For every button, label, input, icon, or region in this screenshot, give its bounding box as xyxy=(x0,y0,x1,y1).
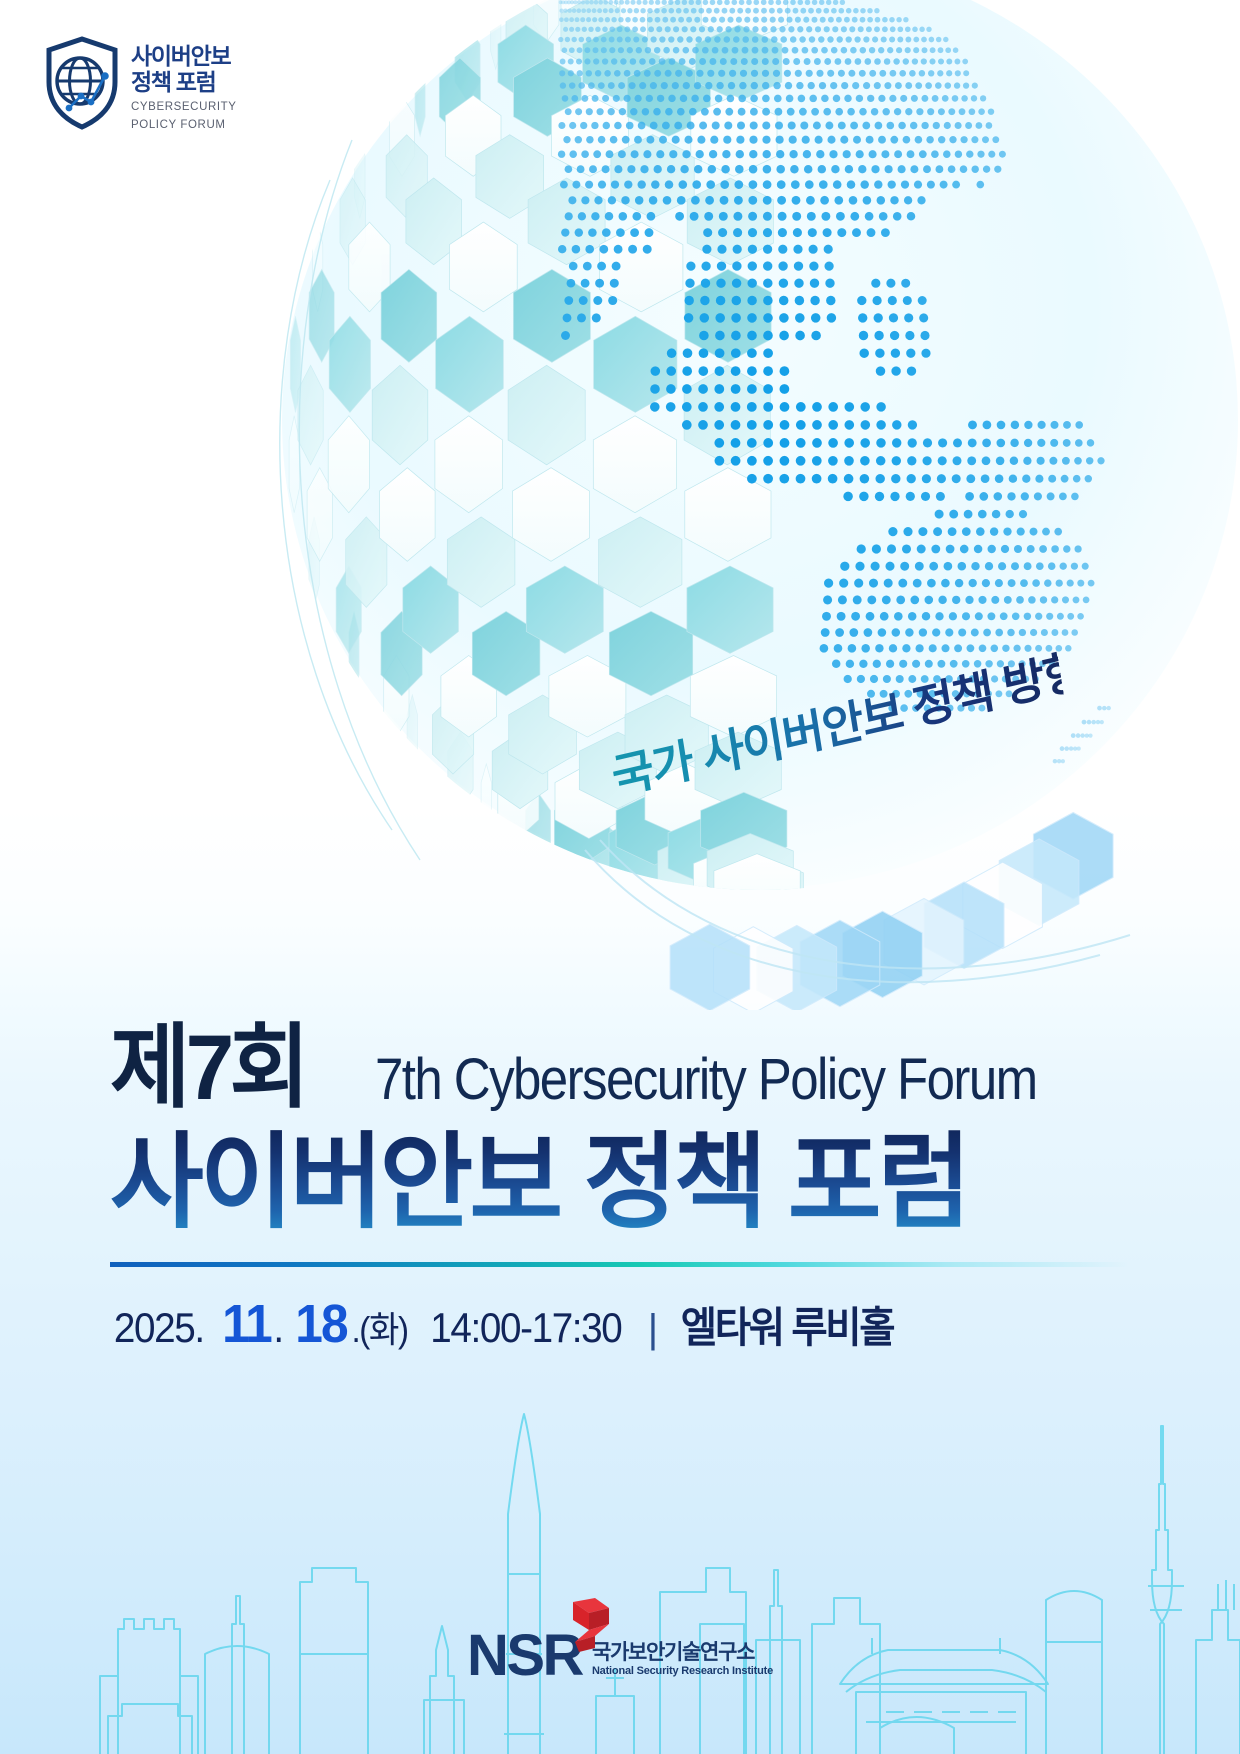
globe-map-dot xyxy=(938,438,947,447)
globe-map-dot xyxy=(964,510,973,519)
globe-map-dot xyxy=(853,595,862,604)
globe-map-dot xyxy=(737,122,745,130)
globe-map-dot xyxy=(914,181,922,189)
globe-map-dot xyxy=(1024,613,1031,620)
globe-map-dot xyxy=(835,628,844,637)
globe-map-dot xyxy=(803,150,811,158)
globe-map-dot xyxy=(1071,563,1078,570)
globe-map-dot xyxy=(808,228,817,237)
globe-map-dot xyxy=(919,27,924,32)
globe-map-dot xyxy=(725,26,731,32)
globe-map-dot xyxy=(742,47,749,54)
globe-map-dot xyxy=(844,17,850,23)
globe-map-dot xyxy=(662,122,670,130)
globe-map-dot xyxy=(577,70,583,76)
globe-map-dot xyxy=(896,596,905,605)
globe-map-dot xyxy=(619,212,628,221)
globe-map-dot xyxy=(1024,439,1032,447)
globe-map-dot xyxy=(783,58,790,65)
nsr-subtitle-block: 국가보안기술연구소 National Security Research Ins… xyxy=(592,1641,773,1682)
globe-map-dot xyxy=(907,150,915,158)
globe-map-dot xyxy=(905,628,913,636)
globe-map-dot xyxy=(965,596,973,604)
globe-map-dot xyxy=(761,17,767,23)
globe-map-dot xyxy=(922,456,931,465)
seoul-skyline-outline xyxy=(0,1324,1240,1754)
globe-map-dot xyxy=(763,384,773,394)
globe-map-dot xyxy=(1082,720,1087,725)
globe-map-dot xyxy=(955,122,962,129)
globe-map-dot xyxy=(591,122,598,129)
globe-map-dot xyxy=(878,47,884,53)
globe-map-dot xyxy=(793,58,800,65)
globe-map-dot xyxy=(739,82,746,89)
globe-map-dot xyxy=(995,474,1004,483)
globe-map-dot xyxy=(761,8,767,14)
globe-map-dot xyxy=(889,17,895,23)
globe-map-dot xyxy=(763,180,772,189)
globe-map-dot xyxy=(731,456,741,466)
globe-map-dot xyxy=(1048,562,1056,570)
globe-map-dot xyxy=(763,474,773,484)
globe-map-dot xyxy=(991,645,999,653)
globe-map-dot xyxy=(778,228,787,237)
globe-map-dot xyxy=(838,595,847,604)
globe-map-dot xyxy=(718,70,725,77)
globe-map-dot xyxy=(715,348,725,358)
globe-map-dot xyxy=(691,8,697,14)
globe-map-dot xyxy=(603,8,608,13)
globe-map-dot xyxy=(806,196,815,205)
globe-map-dot xyxy=(614,122,622,130)
globe-map-dot xyxy=(881,36,887,42)
globe-map-dot xyxy=(780,402,790,412)
globe-map-dot xyxy=(943,150,951,158)
globe-map-dot xyxy=(701,261,710,270)
globe-map-dot xyxy=(701,108,709,116)
globe-map-dot xyxy=(885,165,893,173)
globe-map-dot xyxy=(876,438,886,448)
globe-map-dot xyxy=(818,36,824,42)
globe-map-dot xyxy=(821,47,828,54)
globe-map-dot xyxy=(615,8,620,13)
globe-map-dot xyxy=(569,150,577,158)
globe-map-dot xyxy=(586,136,594,144)
globe-map-dot xyxy=(1001,545,1009,553)
globe-map-dot xyxy=(750,121,758,129)
globe-map-dot xyxy=(568,70,574,76)
globe-map-dot xyxy=(643,245,652,254)
globe-map-dot xyxy=(946,70,952,76)
globe-map-dot xyxy=(971,95,977,101)
globe-map-dot xyxy=(677,108,685,116)
globe-map-dot xyxy=(903,296,912,305)
globe-map-dot xyxy=(945,47,951,53)
globe-map-dot xyxy=(849,628,858,637)
meta-weekday: .(화) xyxy=(351,1301,407,1353)
globe-map-dot xyxy=(645,228,654,237)
globe-map-dot xyxy=(894,612,903,621)
globe-map-dot xyxy=(714,8,720,14)
globe-map-dot xyxy=(742,36,749,43)
globe-map-dot xyxy=(848,644,857,653)
globe-map-dot xyxy=(632,212,641,221)
globe-map-dot xyxy=(702,245,711,254)
globe-map-dot xyxy=(563,313,572,322)
globe-map-dot xyxy=(860,402,870,412)
globe-map-dot xyxy=(762,70,769,77)
globe-map-dot xyxy=(992,510,1001,519)
globe-map-dot xyxy=(706,180,715,189)
globe-map-dot xyxy=(686,36,692,42)
globe-map-dot xyxy=(944,562,953,571)
globe-map-dot xyxy=(894,150,902,158)
globe-map-dot xyxy=(869,579,878,588)
globe-map-dot xyxy=(838,122,846,130)
globe-map-dot xyxy=(905,82,912,89)
globe-map-dot xyxy=(977,151,984,158)
globe-map-dot xyxy=(1074,457,1082,465)
globe-map-dot xyxy=(821,212,830,221)
globe-map-dot xyxy=(617,37,623,43)
globe-map-dot xyxy=(675,212,684,221)
globe-map-dot xyxy=(824,245,833,254)
globe-map-dot xyxy=(935,510,944,519)
globe-map-dot xyxy=(573,0,577,4)
globe-map-dot xyxy=(814,58,821,65)
globe-map-dot xyxy=(972,83,978,89)
globe-map-dot xyxy=(716,82,723,89)
globe-map-dot xyxy=(1071,629,1078,636)
globe-map-dot xyxy=(670,17,676,23)
globe-map-dot xyxy=(1037,457,1045,465)
globe-map-dot xyxy=(620,58,626,64)
globe-map-dot xyxy=(929,562,938,571)
globe-map-dot xyxy=(613,95,620,102)
globe-map-dot xyxy=(733,245,742,254)
globe-map-dot xyxy=(921,37,927,43)
globe-map-dot xyxy=(731,313,741,323)
globe-map-dot xyxy=(894,108,901,115)
globe-map-dot xyxy=(882,595,891,604)
globe-map-dot xyxy=(809,261,818,270)
globe-map-dot xyxy=(823,108,831,116)
globe-map-dot xyxy=(656,26,662,32)
globe-map-dot xyxy=(874,8,879,13)
globe-map-dot xyxy=(945,82,952,89)
globe-map-dot xyxy=(593,296,602,305)
globe-map-dot xyxy=(946,545,955,554)
globe-map-dot xyxy=(878,136,886,144)
globe-map-dot xyxy=(593,58,599,64)
globe-map-dot xyxy=(682,402,692,412)
globe-map-dot xyxy=(721,165,730,174)
globe-map-dot xyxy=(650,402,660,412)
globe-map-dot xyxy=(1030,528,1038,536)
globe-map-dot xyxy=(654,70,661,77)
title-row-primary: 제7회 7th Cybersecurity Policy Forum xyxy=(110,1022,1140,1118)
globe-map-dot xyxy=(816,70,823,77)
globe-map-dot xyxy=(837,228,846,237)
globe-map-dot xyxy=(796,82,803,89)
globe-map-dot xyxy=(831,47,838,54)
globe-map-dot xyxy=(763,245,772,254)
globe-map-dot xyxy=(666,402,676,412)
globe-map-dot xyxy=(692,47,699,54)
globe-map-dot xyxy=(892,438,901,447)
globe-map-dot xyxy=(921,122,928,129)
globe-map-dot xyxy=(610,136,618,144)
globe-map-dot xyxy=(793,245,802,254)
globe-svg xyxy=(0,0,1240,1010)
globe-map-dot xyxy=(752,36,759,43)
globe-map-dot xyxy=(938,136,945,143)
meta-venue: 엘타워 루비홀 xyxy=(681,1294,893,1355)
globe-map-dot xyxy=(862,122,870,130)
globe-map-dot xyxy=(770,17,776,23)
globe-map-dot xyxy=(897,26,903,32)
globe-map-dot xyxy=(747,296,757,306)
globe-map-dot xyxy=(845,165,853,173)
globe-map-dot xyxy=(732,261,741,270)
globe-map-dot xyxy=(672,82,679,89)
globe-map-dot xyxy=(813,122,821,130)
globe-map-dot xyxy=(932,95,939,102)
globe-map-dot xyxy=(762,108,770,116)
globe-map-dot xyxy=(912,660,920,668)
globe-map-dot xyxy=(558,245,566,253)
globe-map-dot xyxy=(901,279,910,288)
globe-map-dot xyxy=(874,313,883,322)
logo-en-line1: CYBERSECURITY xyxy=(131,100,237,114)
globe-map-dot xyxy=(865,212,874,221)
globe-map-dot xyxy=(733,212,742,221)
globe-map-dot xyxy=(651,180,659,188)
globe-map-dot xyxy=(844,456,854,466)
globe-map-dot xyxy=(841,47,848,54)
globe-map-dot xyxy=(796,456,806,466)
globe-map-dot xyxy=(762,121,770,129)
globe-map-dot xyxy=(609,8,614,13)
globe-map-dot xyxy=(669,58,676,65)
globe-map-dot xyxy=(571,37,576,42)
globe-map-dot xyxy=(720,58,727,65)
globe-map-dot xyxy=(979,492,988,501)
globe-map-dot xyxy=(779,278,788,287)
globe-map-dot xyxy=(907,474,916,483)
globe-map-dot xyxy=(821,628,830,637)
globe-map-dot xyxy=(1071,733,1076,738)
globe-map-dot xyxy=(834,196,843,205)
globe-map-dot xyxy=(792,47,799,54)
globe-map-dot xyxy=(792,196,801,205)
globe-map-dot xyxy=(837,36,843,42)
globe-map-dot xyxy=(960,136,967,143)
globe-map-dot xyxy=(776,165,785,174)
globe-map-dot xyxy=(799,108,807,116)
content-area: 제7회 7th Cybersecurity Policy Forum 사이버안보… xyxy=(0,960,1240,1754)
globe-map-dot xyxy=(1073,596,1080,603)
globe-map-dot xyxy=(779,474,789,484)
globe-map-dot xyxy=(802,47,809,54)
globe-map-dot xyxy=(762,95,770,103)
globe-map-dot xyxy=(588,27,593,32)
globe-map-dot xyxy=(896,47,902,53)
globe-map-dot xyxy=(891,366,900,375)
globe-map-dot xyxy=(929,37,935,43)
globe-map-dot xyxy=(877,196,886,205)
globe-map-dot xyxy=(714,402,724,412)
globe-map-dot xyxy=(669,8,675,14)
globe-map-dot xyxy=(869,150,877,158)
globe-map-dot xyxy=(810,296,819,305)
globe-map-dot xyxy=(738,95,746,103)
globe-map-dot xyxy=(586,37,592,43)
globe-map-dot xyxy=(575,17,580,22)
globe-map-dot xyxy=(1107,706,1111,710)
globe-map-dot xyxy=(776,150,784,158)
globe-map-dot xyxy=(949,612,957,620)
globe-map-dot xyxy=(763,456,773,466)
globe-map-dot xyxy=(680,165,688,173)
globe-map-dot xyxy=(860,474,870,484)
globe-map-dot xyxy=(1102,706,1107,711)
globe-map-dot xyxy=(812,402,822,412)
globe-map-dot xyxy=(985,562,993,570)
globe-map-dot xyxy=(971,629,979,637)
globe-map-dot xyxy=(1011,562,1019,570)
globe-map-dot xyxy=(963,82,969,88)
nsr-subtitle-en: National Security Research Institute xyxy=(592,1665,773,1678)
globe-map-dot xyxy=(606,150,614,158)
globe-map-dot xyxy=(577,313,586,322)
globe-map-dot xyxy=(780,36,787,43)
globe-map-dot xyxy=(923,438,932,447)
globe-map-dot xyxy=(608,108,615,115)
globe-map-dot xyxy=(840,136,848,144)
globe-map-dot xyxy=(900,562,909,571)
globe-map-dot xyxy=(682,420,692,430)
globe-map-dot xyxy=(689,58,696,65)
globe-map-dot xyxy=(717,261,726,270)
globe-map-dot xyxy=(640,17,646,23)
globe-map-dot xyxy=(826,296,835,305)
globe-map-dot xyxy=(616,228,625,237)
meta-separator: | xyxy=(630,1307,674,1352)
globe-map-dot xyxy=(828,402,838,412)
globe-map-dot xyxy=(729,70,736,77)
globe-map-dot xyxy=(1088,734,1092,738)
globe-map-dot xyxy=(921,58,927,64)
globe-map-dot xyxy=(960,165,968,173)
globe-map-dot xyxy=(584,58,590,64)
globe-map-dot xyxy=(1075,421,1083,429)
globe-map-dot xyxy=(602,165,610,173)
globe-map-dot xyxy=(614,245,623,254)
globe-map-dot xyxy=(700,296,709,305)
globe-map-dot xyxy=(602,27,608,33)
globe-artwork: 국가 사이버안보 정책 방향 xyxy=(0,0,1240,1010)
globe-map-dot xyxy=(811,108,819,116)
globe-map-dot xyxy=(697,136,705,144)
globe-map-dot xyxy=(869,47,875,53)
globe-map-dot xyxy=(804,58,811,65)
globe-map-dot xyxy=(843,492,853,502)
globe-map-dot xyxy=(1061,475,1069,483)
globe-map-dot xyxy=(747,474,757,484)
globe-map-dot xyxy=(656,150,664,158)
globe-map-dot xyxy=(820,17,826,23)
globe-map-dot xyxy=(1085,733,1089,737)
globe-map-dot xyxy=(860,47,866,53)
globe-map-dot xyxy=(727,17,733,23)
globe-map-dot xyxy=(1077,747,1081,751)
globe-map-dot xyxy=(887,47,893,53)
globe-map-dot xyxy=(1073,746,1077,750)
globe-map-dot xyxy=(812,474,822,484)
globe-map-dot xyxy=(1024,562,1032,570)
globe-map-dot xyxy=(925,596,934,605)
globe-map-dot xyxy=(876,420,886,430)
globe-map-dot xyxy=(748,228,757,237)
globe-map-dot xyxy=(875,122,883,130)
globe-map-dot xyxy=(645,47,651,53)
globe-map-dot xyxy=(780,366,790,376)
globe-map-dot xyxy=(624,180,632,188)
globe-map-dot xyxy=(841,82,848,89)
globe-map-dot xyxy=(1063,439,1071,447)
globe-map-dot xyxy=(644,70,651,77)
globe-map-dot xyxy=(773,82,780,89)
globe-map-dot xyxy=(732,47,739,54)
globe-map-dot xyxy=(793,8,799,14)
globe-map-dot xyxy=(819,82,826,89)
globe-map-dot xyxy=(1077,580,1084,587)
globe-map-dot xyxy=(663,196,672,205)
globe-map-dot xyxy=(1007,492,1015,500)
globe-map-dot xyxy=(1007,629,1015,637)
globe-map-dot xyxy=(585,0,589,4)
globe-map-dot xyxy=(740,70,747,77)
globe-map-dot xyxy=(853,136,861,144)
globe-map-dot xyxy=(682,384,692,394)
globe-map-dot xyxy=(780,420,790,430)
globe-map-dot xyxy=(661,8,667,14)
globe-map-dot xyxy=(867,8,872,13)
globe-map-dot xyxy=(634,95,641,102)
title-divider xyxy=(110,1262,1130,1267)
meta-day: 18 xyxy=(295,1293,347,1355)
globe-map-dot xyxy=(704,212,713,221)
globe-map-dot xyxy=(1024,421,1032,429)
globe-map-dot xyxy=(811,47,818,54)
logo-en-line2: POLICY FORUM xyxy=(131,118,237,132)
globe-map-dot xyxy=(722,150,730,158)
globe-map-dot xyxy=(1014,545,1022,553)
globe-map-dot xyxy=(601,47,607,53)
globe-map-dot xyxy=(686,261,695,270)
globe-map-dot xyxy=(730,58,737,65)
globe-map-dot xyxy=(609,26,615,32)
globe-map-dot xyxy=(810,279,819,288)
globe-map-dot xyxy=(913,579,922,588)
globe-map-dot xyxy=(1023,457,1031,465)
globe-map-dot xyxy=(558,150,565,157)
globe-map-dot xyxy=(563,136,570,143)
globe-map-dot xyxy=(640,26,646,32)
edition-label: 제7회 xyxy=(110,1022,305,1114)
globe-map-dot xyxy=(569,17,574,22)
